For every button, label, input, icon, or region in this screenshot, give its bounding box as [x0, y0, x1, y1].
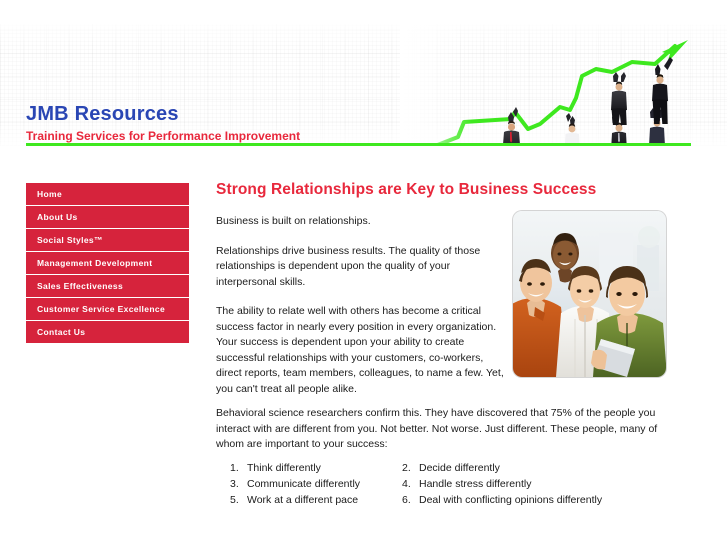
paragraph-4: Behavioral science researchers confirm t…	[216, 406, 668, 453]
list-item-number: 3.	[230, 476, 247, 492]
sidebar-item-about-us[interactable]: About Us	[26, 206, 189, 229]
list-item-number: 6.	[402, 492, 419, 508]
list-item: 1. Think differently	[230, 460, 402, 476]
list-item-label: Communicate differently	[247, 476, 402, 492]
header-divider	[26, 143, 691, 146]
list-item-label: Work at a different pace	[247, 492, 402, 508]
page-root: JMB Resources Training Services for Perf…	[0, 0, 727, 545]
list-item-number: 1.	[230, 460, 247, 476]
sidebar-item-contact-us[interactable]: Contact Us	[26, 321, 189, 343]
paragraph-3: The ability to relate well with others h…	[216, 304, 508, 397]
list-item: 6. Deal with conflicting opinions differ…	[402, 492, 670, 508]
sidebar-item-customer-service-excellence[interactable]: Customer Service Excellence	[26, 298, 189, 321]
site-header: JMB Resources Training Services for Perf…	[0, 24, 727, 146]
growth-chart-icon	[400, 24, 727, 146]
sidebar-item-social-styles[interactable]: Social Styles™	[26, 229, 189, 252]
differences-list: 1. Think differently 2. Decide different…	[230, 460, 670, 508]
sidebar-nav: Home About Us Social Styles™ Management …	[26, 183, 189, 343]
list-item: 3. Communicate differently	[230, 476, 402, 492]
list-item-number: 2.	[402, 460, 419, 476]
paragraph-2: Relationships drive business results. Th…	[216, 244, 508, 291]
list-item-label: Deal with conflicting opinions different…	[419, 492, 670, 508]
list-item-number: 4.	[402, 476, 419, 492]
paragraph-1: Business is built on relationships.	[216, 214, 508, 230]
page-title: Strong Relationships are Key to Business…	[216, 181, 676, 199]
sidebar-item-home[interactable]: Home	[26, 183, 189, 206]
business-team-photo	[513, 211, 666, 377]
list-item-number: 5.	[230, 492, 247, 508]
list-item: 4. Handle stress differently	[402, 476, 670, 492]
main-content: Strong Relationships are Key to Business…	[216, 181, 676, 199]
site-tagline: Training Services for Performance Improv…	[26, 129, 300, 143]
list-item: 5. Work at a different pace	[230, 492, 402, 508]
body-copy: Business is built on relationships. Rela…	[216, 214, 508, 411]
site-title: JMB Resources	[26, 103, 300, 125]
site-logo[interactable]: JMB Resources Training Services for Perf…	[26, 103, 300, 143]
sidebar-item-management-development[interactable]: Management Development	[26, 252, 189, 275]
list-item-label: Decide differently	[419, 460, 670, 476]
list-item-label: Think differently	[247, 460, 402, 476]
sidebar-item-sales-effectiveness[interactable]: Sales Effectiveness	[26, 275, 189, 298]
list-item-label: Handle stress differently	[419, 476, 670, 492]
list-item: 2. Decide differently	[402, 460, 670, 476]
